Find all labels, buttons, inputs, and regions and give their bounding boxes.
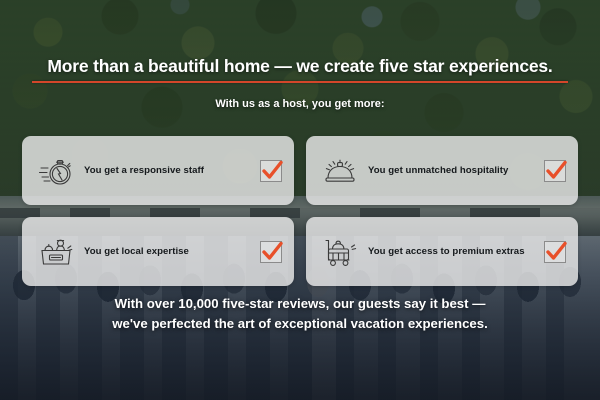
benefit-label: You get local expertise xyxy=(76,246,260,258)
benefit-card-premium-extras[interactable]: You get access to premium extras xyxy=(306,217,578,286)
benefit-checkbox[interactable] xyxy=(260,160,282,182)
statement-review-count: 10,000 xyxy=(178,296,218,311)
benefits-grid: You get a responsive staff xyxy=(22,136,578,286)
hero-headline: More than a beautiful home — we create f… xyxy=(0,56,600,77)
benefit-card-unmatched-hospitality[interactable]: You get unmatched hospitality xyxy=(306,136,578,205)
benefit-label: You get a responsive staff xyxy=(76,165,260,177)
stopwatch-icon xyxy=(36,151,76,191)
statement-line1-suffix: five-star reviews, our guests say it bes… xyxy=(219,296,486,311)
service-bell-icon xyxy=(320,151,360,191)
benefit-card-responsive-staff[interactable]: You get a responsive staff xyxy=(22,136,294,205)
statement-line2: we've perfected the art of exceptional v… xyxy=(112,316,487,331)
statement-line1-prefix: With over xyxy=(115,296,179,311)
benefit-card-local-expertise[interactable]: You get local expertise xyxy=(22,217,294,286)
benefit-checkbox[interactable] xyxy=(544,241,566,263)
luggage-cart-icon xyxy=(320,232,360,272)
benefit-label: You get unmatched hospitality xyxy=(360,165,544,177)
headline-accent-rule xyxy=(32,81,568,83)
benefit-label: You get access to premium extras xyxy=(360,246,544,258)
benefit-checkbox[interactable] xyxy=(260,241,282,263)
concierge-desk-icon xyxy=(36,232,76,272)
benefit-checkbox[interactable] xyxy=(544,160,566,182)
reviews-statement: With over 10,000 five-star reviews, our … xyxy=(50,294,550,334)
hero-subheading: With us as a host, you get more: xyxy=(0,98,600,110)
